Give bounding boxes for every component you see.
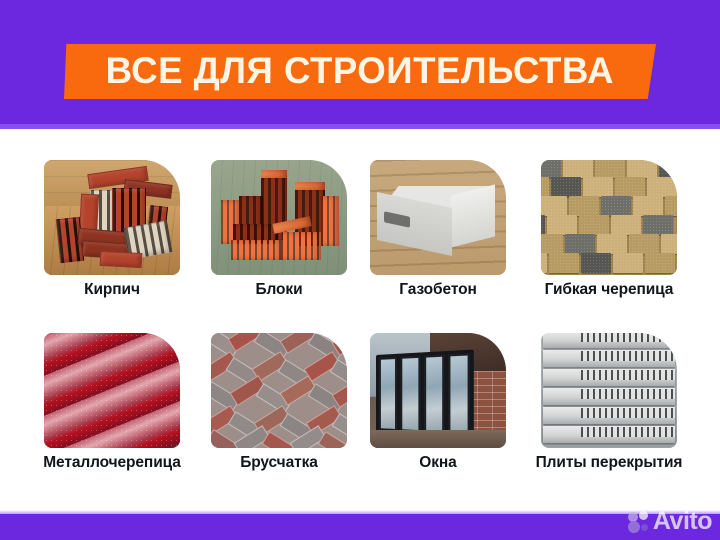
product-label: Гибкая черепица xyxy=(489,281,720,299)
bricks-photo xyxy=(44,160,180,275)
product-card-paving-stones[interactable]: Брусчатка xyxy=(193,328,365,500)
product-thumbnail xyxy=(541,160,677,275)
product-thumbnail xyxy=(44,160,180,275)
product-card-metal-roof-tile[interactable]: Металлочерепица xyxy=(26,328,198,500)
product-thumbnail xyxy=(211,333,347,448)
product-card-windows[interactable]: Окна xyxy=(352,328,524,500)
product-grid: Кирпич xyxy=(0,129,720,540)
product-card-floor-slabs[interactable]: Плиты перекрытия xyxy=(523,328,695,500)
windows-photo xyxy=(370,333,506,448)
aerated-concrete-block-photo xyxy=(370,160,506,275)
avito-wordmark: Avito xyxy=(653,509,712,534)
product-card-blocks[interactable]: Блоки xyxy=(193,155,365,327)
ceramic-blocks-photo xyxy=(211,160,347,275)
metal-roof-tile-photo xyxy=(44,333,180,448)
product-thumbnail xyxy=(211,160,347,275)
headline-text: ВСЕ ДЛЯ СТРОИТЕЛЬСТВА xyxy=(106,52,614,91)
watermark-strip xyxy=(0,514,720,540)
product-row: Кирпич xyxy=(0,155,720,327)
advertisement-poster: ВСЕ ДЛЯ СТРОИТЕЛЬСТВА xyxy=(0,0,720,540)
avito-watermark: Avito xyxy=(628,509,712,534)
product-row: Металлочерепица xyxy=(0,328,720,500)
product-thumbnail xyxy=(541,333,677,448)
product-label: Плиты перекрытия xyxy=(489,454,720,472)
headline-banner: ВСЕ ДЛЯ СТРОИТЕЛЬСТВА xyxy=(64,44,656,99)
avito-dots-logo-icon xyxy=(628,511,650,533)
product-thumbnail xyxy=(44,333,180,448)
poster-header: ВСЕ ДЛЯ СТРОИТЕЛЬСТВА xyxy=(0,0,720,129)
paving-stones-photo xyxy=(211,333,347,448)
product-thumbnail xyxy=(370,160,506,275)
product-card-bricks[interactable]: Кирпич xyxy=(26,155,198,327)
product-card-flexible-shingles[interactable]: Гибкая черепица xyxy=(523,155,695,327)
floor-slabs-photo xyxy=(541,333,677,448)
product-card-aerated-concrete[interactable]: Газобетон xyxy=(352,155,524,327)
flexible-shingles-photo xyxy=(541,160,677,275)
product-thumbnail xyxy=(370,333,506,448)
